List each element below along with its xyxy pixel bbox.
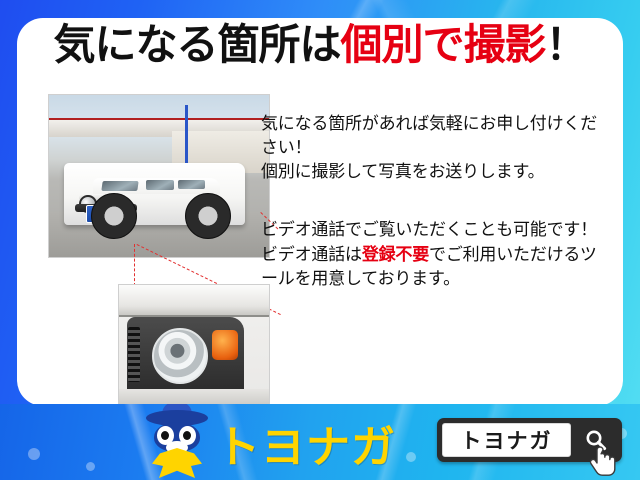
headline-part-1: 気になる箇所は xyxy=(53,20,340,69)
search-input[interactable]: トヨナガ xyxy=(442,423,571,457)
mascot-pupil-left xyxy=(161,431,169,440)
content-panel: 気になる箇所は個別で撮影！ xyxy=(17,18,623,406)
search-button[interactable] xyxy=(576,424,616,456)
brand-footer: トヨナガ トヨナガ xyxy=(0,404,640,480)
turn-signal-lamp xyxy=(212,330,238,360)
headlight-scene xyxy=(119,285,269,406)
car-photo xyxy=(48,94,270,258)
description-column: 気になる箇所があれば気軽にお申し付けください！ 個別に撮影して写真をお送りします… xyxy=(261,112,611,291)
videocall-line-2: ビデオ通話は登録不要でご利用いただけるツールを用意しております。 xyxy=(261,243,611,291)
windshield xyxy=(102,181,139,191)
videocall-pre: ビデオ通話は xyxy=(261,245,362,265)
car-hood xyxy=(119,285,269,317)
decor-dot-1 xyxy=(28,448,40,460)
photo-column xyxy=(33,94,273,399)
brand-wordmark: トヨナガ xyxy=(216,426,396,470)
advertisement-banner: 気になる箇所は個別で撮影！ xyxy=(0,0,640,480)
search-widget[interactable]: トヨナガ xyxy=(437,418,622,462)
headlight-photo xyxy=(118,284,270,406)
toyonaga-mascot-icon xyxy=(146,408,208,478)
decor-dot-2 xyxy=(86,462,95,471)
decor-dot-3 xyxy=(406,452,416,462)
paragraph-request: 気になる箇所があれば気軽にお申し付けください！ 個別に撮影して写真をお送りします… xyxy=(261,112,611,184)
page-title: 気になる箇所は個別で撮影！ xyxy=(17,24,623,66)
no-registration-highlight: 登録不要 xyxy=(362,245,429,265)
car-scene xyxy=(49,95,269,257)
videocall-line-1: ビデオ通話でご覧いただくことも可能です！ xyxy=(261,218,611,242)
mascot-body xyxy=(152,448,202,478)
paragraph-videocall: ビデオ通話でご覧いただくことも可能です！ ビデオ通話は登録不要でご利用いただける… xyxy=(261,218,611,290)
mascot-pupil-right xyxy=(183,431,191,440)
paragraph-request-text: 気になる箇所があれば気軽にお申し付けください！ 個別に撮影して写真をお送りします… xyxy=(261,114,597,182)
grille-vent xyxy=(128,327,140,382)
rear-window xyxy=(178,180,205,189)
front-door-window xyxy=(146,180,175,190)
headline-exclamation: ！ xyxy=(546,20,587,69)
headline-highlight: 個別で撮影 xyxy=(340,20,545,69)
front-wheel xyxy=(91,193,137,239)
headlamp-lens xyxy=(152,328,208,384)
search-icon xyxy=(584,428,608,452)
